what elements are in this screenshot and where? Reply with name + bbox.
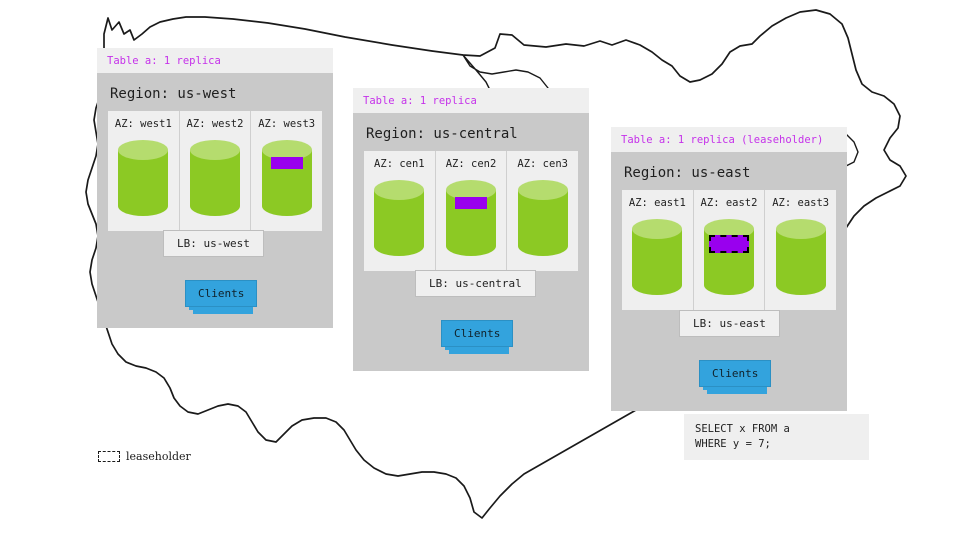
az-label: AZ: east1 — [629, 197, 686, 209]
az-cell-east3[interactable]: AZ: east3 — [765, 190, 836, 310]
node-cylinder[interactable] — [189, 139, 241, 217]
node-cylinder[interactable] — [117, 139, 169, 217]
panel-header-us-east: Table a: 1 replica (leaseholder) — [611, 127, 847, 152]
node-cylinder[interactable] — [631, 218, 683, 296]
az-cell-west1[interactable]: AZ: west1 — [108, 111, 180, 231]
az-label: AZ: east2 — [701, 197, 758, 209]
dashed-rect-icon — [98, 451, 120, 462]
table-replica-label: Table a: 1 replica — [107, 55, 323, 67]
node-cylinder[interactable] — [373, 179, 425, 257]
clients-us-central[interactable]: Clients — [441, 320, 513, 347]
replica-marker-leaseholder — [709, 235, 749, 253]
region-title: Region: us-central — [353, 113, 589, 151]
region-panel-us-central: Table a: 1 replica Region: us-central AZ… — [353, 88, 589, 371]
region-panel-us-west: Table a: 1 replica Region: us-west AZ: w… — [97, 48, 333, 328]
az-cell-west2[interactable]: AZ: west2 — [180, 111, 252, 231]
az-label: AZ: west3 — [258, 118, 315, 130]
az-row: AZ: cen1 AZ: cen2 — [364, 151, 578, 271]
clients-label[interactable]: Clients — [185, 280, 257, 307]
node-cylinder[interactable] — [517, 179, 569, 257]
az-cell-east2[interactable]: AZ: east2 — [694, 190, 766, 310]
diagram-canvas: 1 2 3 4 5 Table a: 1 replica Region: us-… — [0, 0, 960, 540]
az-cell-west3[interactable]: AZ: west3 — [251, 111, 322, 231]
az-label: AZ: cen2 — [446, 158, 497, 170]
load-balancer-us-central[interactable]: LB: us-central — [415, 270, 536, 297]
az-label: AZ: west2 — [187, 118, 244, 130]
region-title: Region: us-west — [97, 73, 333, 111]
region-panel-us-east: Table a: 1 replica (leaseholder) Region:… — [611, 127, 847, 411]
node-cylinder[interactable] — [703, 218, 755, 296]
az-label: AZ: cen1 — [374, 158, 425, 170]
az-label: AZ: cen3 — [517, 158, 568, 170]
clients-label[interactable]: Clients — [441, 320, 513, 347]
load-balancer-us-west[interactable]: LB: us-west — [163, 230, 264, 257]
az-row: AZ: west1 AZ: west2 AZ: — [108, 111, 322, 231]
az-cell-cen1[interactable]: AZ: cen1 — [364, 151, 436, 271]
az-row: AZ: east1 AZ: east2 — [622, 190, 836, 310]
clients-label[interactable]: Clients — [699, 360, 771, 387]
az-label: AZ: west1 — [115, 118, 172, 130]
legend-label: leaseholder — [126, 450, 191, 463]
panel-header-us-west: Table a: 1 replica — [97, 48, 333, 73]
node-cylinder[interactable] — [775, 218, 827, 296]
load-balancer-us-east[interactable]: LB: us-east — [679, 310, 780, 337]
az-label: AZ: east3 — [772, 197, 829, 209]
panel-header-us-central: Table a: 1 replica — [353, 88, 589, 113]
sql-query-box: SELECT x FROM a WHERE y = 7; — [684, 414, 869, 460]
replica-marker — [271, 157, 303, 169]
region-title: Region: us-east — [611, 152, 847, 190]
az-cell-cen2[interactable]: AZ: cen2 — [436, 151, 508, 271]
az-cell-cen3[interactable]: AZ: cen3 — [507, 151, 578, 271]
clients-us-west[interactable]: Clients — [185, 280, 257, 307]
node-cylinder[interactable] — [445, 179, 497, 257]
table-replica-label: Table a: 1 replica — [363, 95, 579, 107]
replica-marker — [455, 197, 487, 209]
table-replica-label: Table a: 1 replica (leaseholder) — [621, 134, 837, 146]
node-cylinder[interactable] — [261, 139, 313, 217]
legend-leaseholder: leaseholder — [98, 450, 191, 463]
az-cell-east1[interactable]: AZ: east1 — [622, 190, 694, 310]
clients-us-east[interactable]: Clients — [699, 360, 771, 387]
